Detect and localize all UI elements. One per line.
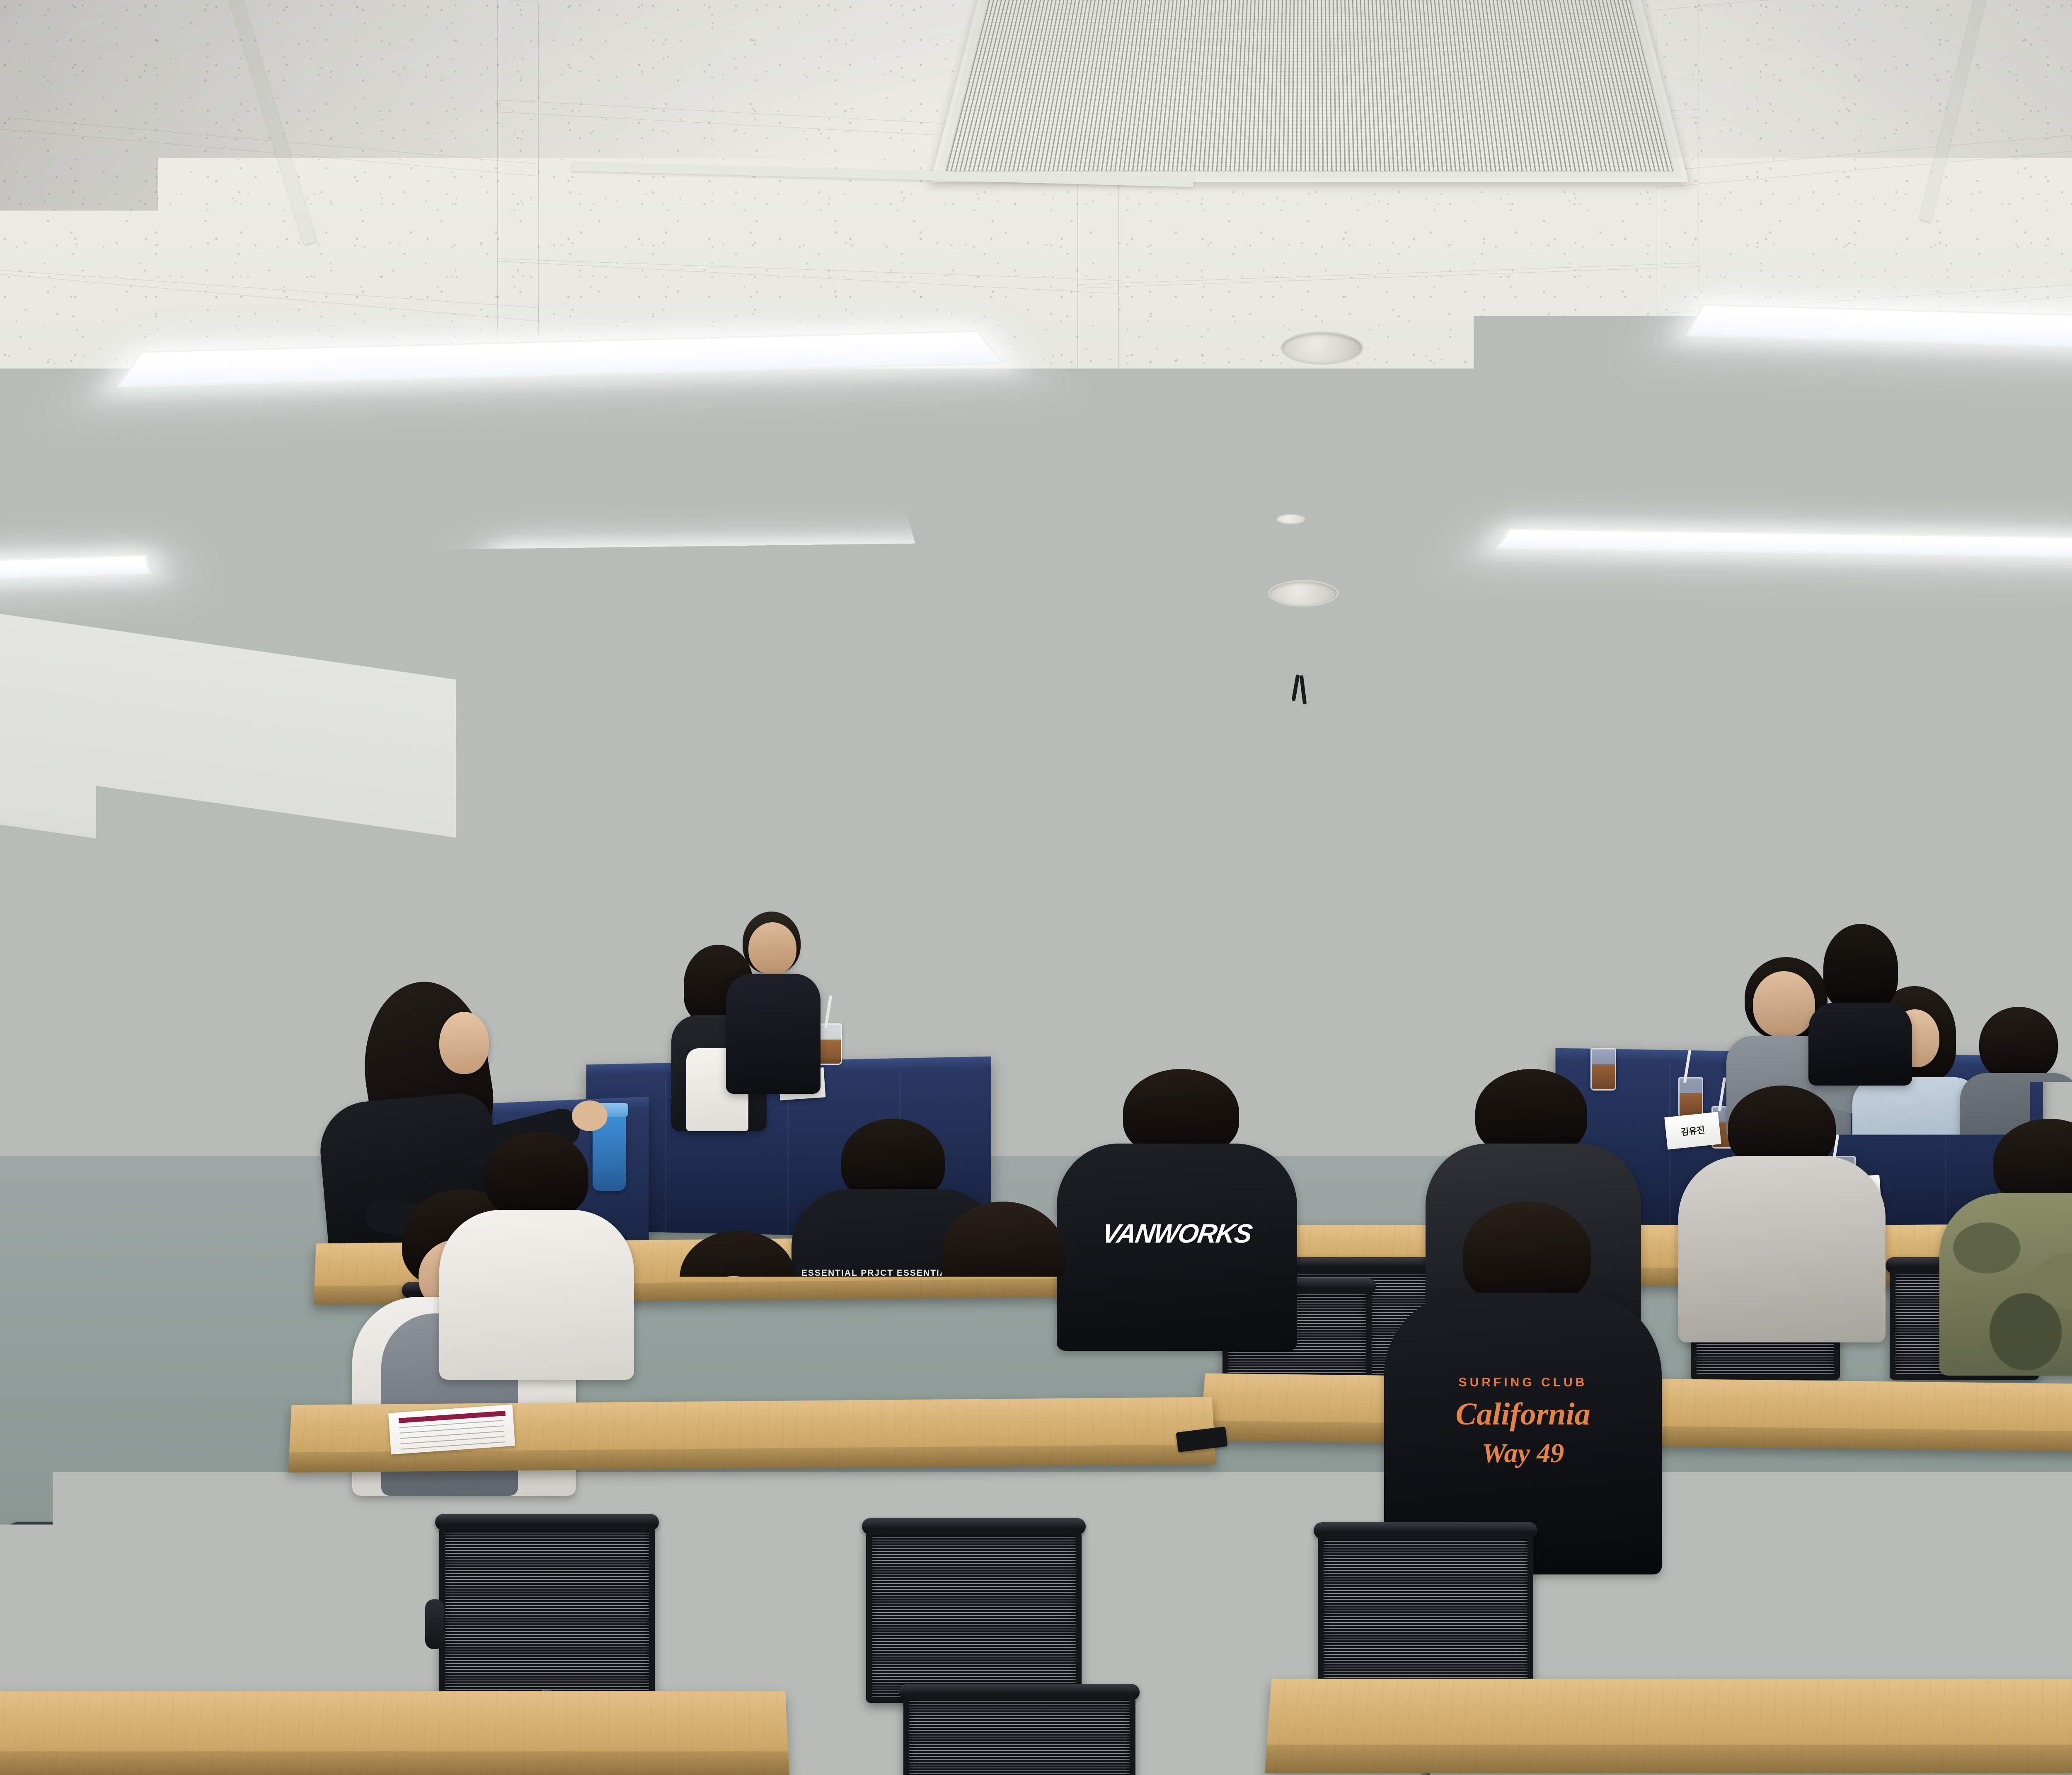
drop-ceiling [0, 0, 2072, 750]
chair[interactable] [439, 1525, 655, 1699]
chair[interactable] [903, 1695, 1135, 1775]
video-top-icons: ⤴⋮ [1377, 780, 1407, 795]
ceiling-tile [622, 600, 1243, 708]
hand-right [572, 1100, 608, 1131]
head [748, 922, 796, 975]
settings-icon[interactable]: ⚙ [1371, 950, 1379, 961]
torso [1808, 1003, 1912, 1086]
wall-speaker-icon [1938, 711, 1984, 774]
pause-icon[interactable]: ❙❙ [1087, 950, 1103, 961]
light-grey-hoodie [1678, 1156, 1886, 1342]
projection-screen: 광복 80주년 기념 호국보훈 난타공연_천안시청소년수련관_난타팀 크러시 ⤴… [1075, 767, 1419, 974]
video-control-bar[interactable]: ❙❙ 🔊 9:07 / 8:23 ▭ ⚙ ▣ ⛶ [1087, 950, 1407, 961]
student-black-hoodie [874, 1202, 1131, 1516]
ceiling-ac-grille-icon [930, 0, 1689, 182]
torso [726, 974, 821, 1094]
slide-subtitle: 천안시청소년수련관난타팀 [1080, 880, 1415, 908]
ceiling-sensor-icon [1276, 514, 1305, 525]
white-hoodie [439, 1210, 634, 1380]
miniplayer-icon[interactable]: ▣ [1385, 950, 1394, 961]
bu-logo-label: BU [975, 774, 986, 784]
video-time: 9:07 / 8:23 [1128, 950, 1171, 961]
projected-slide: 광복 80주년 기념 호국보훈 난타공연_천안시청소년수련관_난타팀 크러시 ⤴… [1080, 771, 1415, 970]
bu-logo-icon: BU [968, 764, 994, 791]
chair[interactable] [12, 1533, 228, 1707]
hair [1993, 1119, 2072, 1206]
ceiling-tile [1077, 263, 1699, 421]
video-title-bar: 광복 80주년 기념 호국보훈 난타공연_천안시청소년수련관_난타팀 크러시 [1089, 784, 1415, 800]
hair [1475, 1069, 1587, 1156]
hair [485, 1131, 588, 1218]
student-grey-navy-raglan [622, 1231, 854, 1554]
trigram-geon [820, 839, 862, 877]
wall-speaker-icon [517, 720, 565, 782]
chair[interactable] [1753, 1529, 1968, 1703]
slide-subtitle-2: crush [1080, 906, 1415, 931]
torso [1652, 854, 1733, 990]
hair [1463, 1202, 1591, 1305]
hair [1123, 1069, 1239, 1156]
video-progress-bar[interactable] [1087, 947, 1408, 949]
head [1674, 807, 1710, 850]
surfing-club-graphic: SURFING CLUB [1384, 1376, 1662, 1390]
head [1753, 971, 1815, 1037]
seminar-room-photo: 천안 BU CNYF 광복 80주년 기념 호국보훈 난타공연_천안시청소년수련… [0, 0, 2072, 1775]
chair[interactable] [866, 1529, 1082, 1703]
camo-jacket [1939, 1193, 2072, 1376]
program-sheet[interactable] [388, 1405, 515, 1455]
hair [1979, 1007, 2058, 1081]
cnyf-logo-icon: CNYF [1459, 775, 1501, 793]
staff-standing-right [1811, 924, 1915, 1081]
trigram-gon [835, 967, 876, 1002]
front-table-closest-right [1265, 1679, 2072, 1773]
fullscreen-icon[interactable]: ⛶ [1401, 950, 1407, 961]
presenter-at-podium [1643, 800, 1738, 1015]
judge-left-seated-2 [724, 912, 828, 1090]
event-signboard: 행사안내 천안시청소년수련관 프로그램 발표회 [1881, 792, 1964, 863]
way49-graphic: Way 49 [1384, 1438, 1662, 1469]
ceiling-speaker-icon [1280, 331, 1363, 365]
captions-icon[interactable]: ▭ [1356, 950, 1364, 961]
head [439, 1012, 489, 1074]
student-white-hoodie [439, 1131, 634, 1380]
ceiling-sensor-icon [1753, 609, 1779, 619]
california-graphic: California [1384, 1396, 1662, 1432]
student-grey-hoodie-right [1678, 1086, 1886, 1342]
signboard-title: 행사안내 [1888, 799, 1958, 813]
front-table-closest-left [0, 1691, 789, 1775]
student-camo-jacket [1939, 1119, 2072, 1376]
signboard-subtitle: 천안시청소년수련관 프로그램 발표회 [1888, 818, 1958, 834]
hair [1823, 924, 1898, 1011]
volume-icon[interactable]: 🔊 [1109, 950, 1121, 961]
ceiling-speaker-icon [1268, 580, 1339, 607]
student-california-hoodie: SURFING CLUB California Way 49 [1368, 1202, 1674, 1574]
